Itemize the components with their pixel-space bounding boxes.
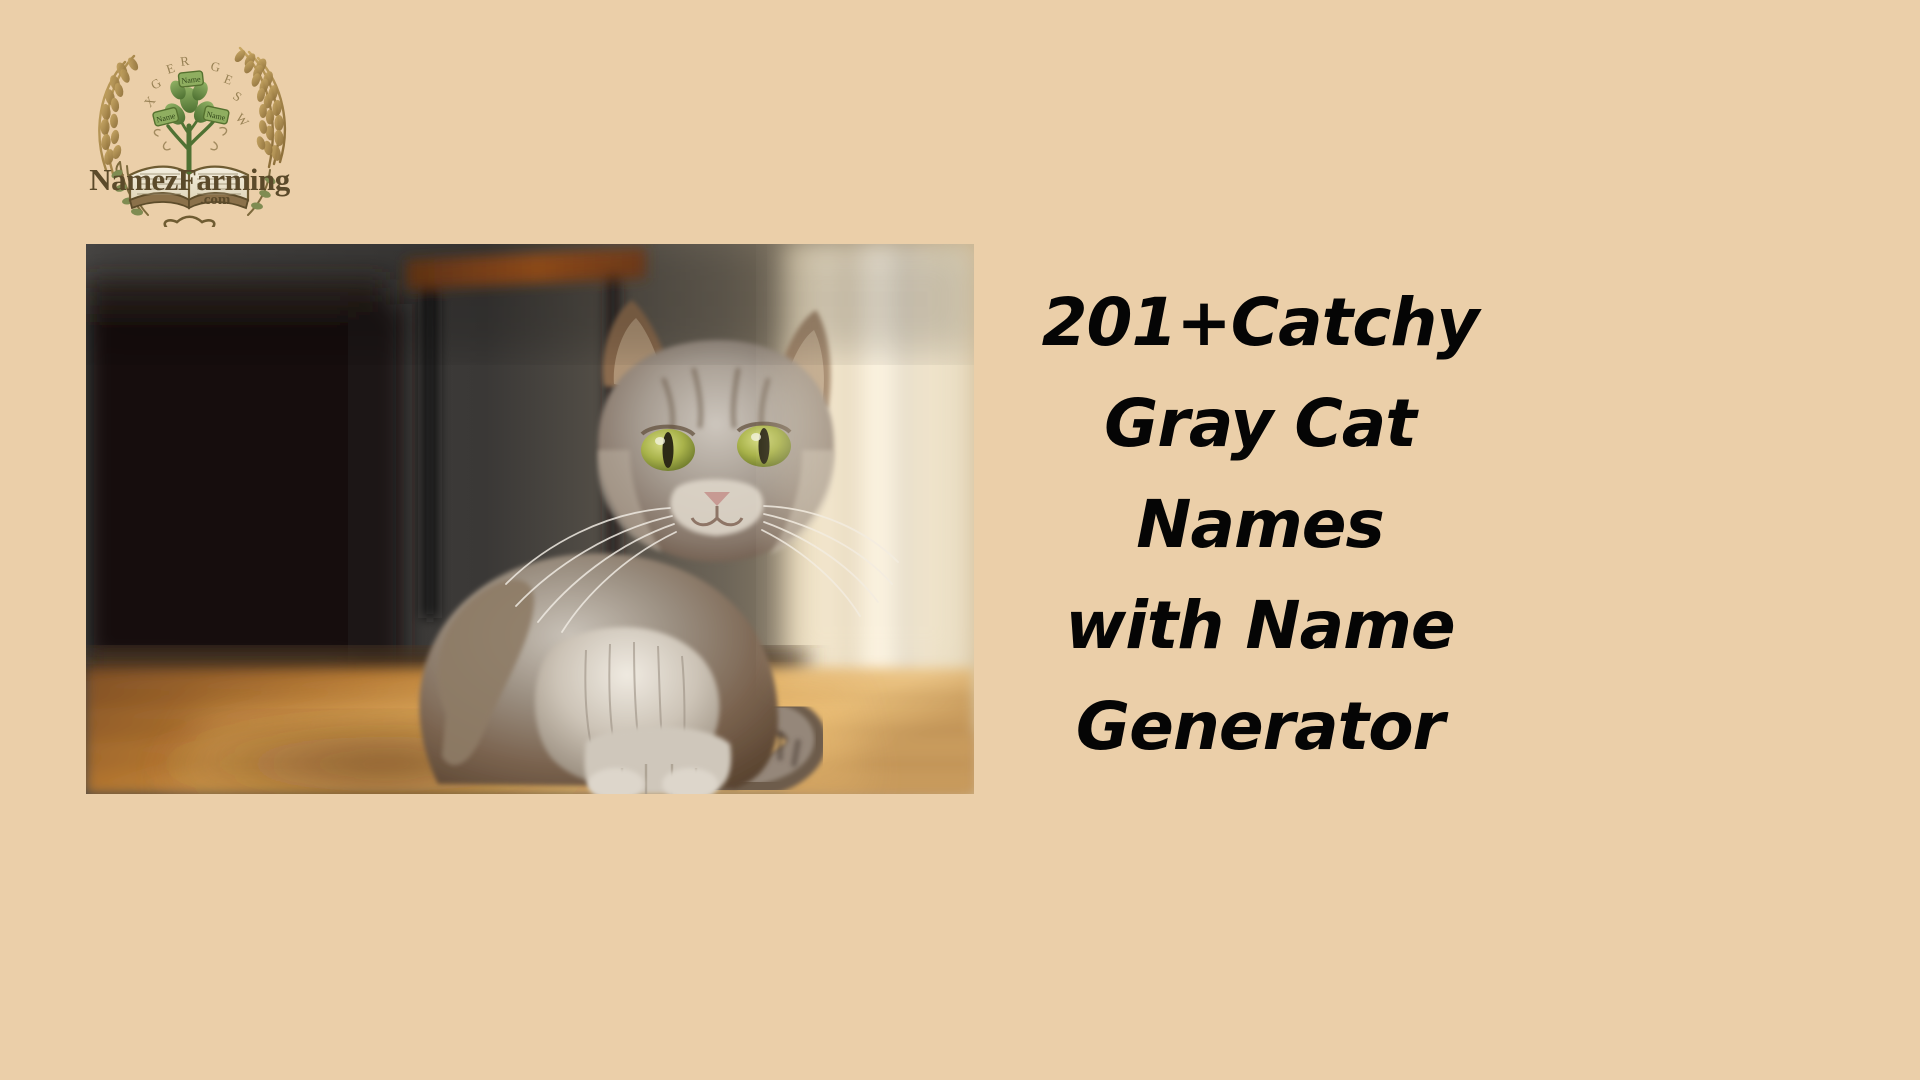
svg-text:G: G xyxy=(148,75,164,93)
poster-canvas: Name Name Name G E R G E S xyxy=(0,0,1920,1080)
title-line-2: Gray Cat xyxy=(1000,373,1520,474)
logo-tld: .com xyxy=(200,193,300,208)
svg-text:G: G xyxy=(209,58,221,75)
title-line-5: Generator xyxy=(1000,676,1520,777)
name-tree-icon: Name Name Name G E R G E S xyxy=(141,53,253,172)
title-line-4: with Name xyxy=(1000,575,1520,676)
svg-text:S: S xyxy=(230,88,244,104)
svg-text:X: X xyxy=(141,93,159,110)
svg-text:R: R xyxy=(179,53,190,69)
title-line-3: Names xyxy=(1000,474,1520,575)
gray-cat-illustration xyxy=(86,244,974,794)
wreath-knot-icon xyxy=(165,217,215,227)
namezfarming-logo[interactable]: Name Name Name G E R G E S xyxy=(82,22,297,227)
title-line-1: 201+Catchy xyxy=(1000,272,1520,373)
svg-text:E: E xyxy=(222,71,235,88)
name-tag-right: Name xyxy=(203,106,229,125)
logo-wordmark: NamezFarming xyxy=(82,164,297,195)
gray-cat-photo xyxy=(86,244,974,794)
svg-text:E: E xyxy=(164,60,176,77)
article-title: 201+Catchy Gray Cat Names with Name Gene… xyxy=(1000,272,1520,777)
name-tag-top: Name xyxy=(178,71,203,87)
svg-text:W: W xyxy=(233,110,253,130)
wheat-grains-left xyxy=(100,56,140,166)
